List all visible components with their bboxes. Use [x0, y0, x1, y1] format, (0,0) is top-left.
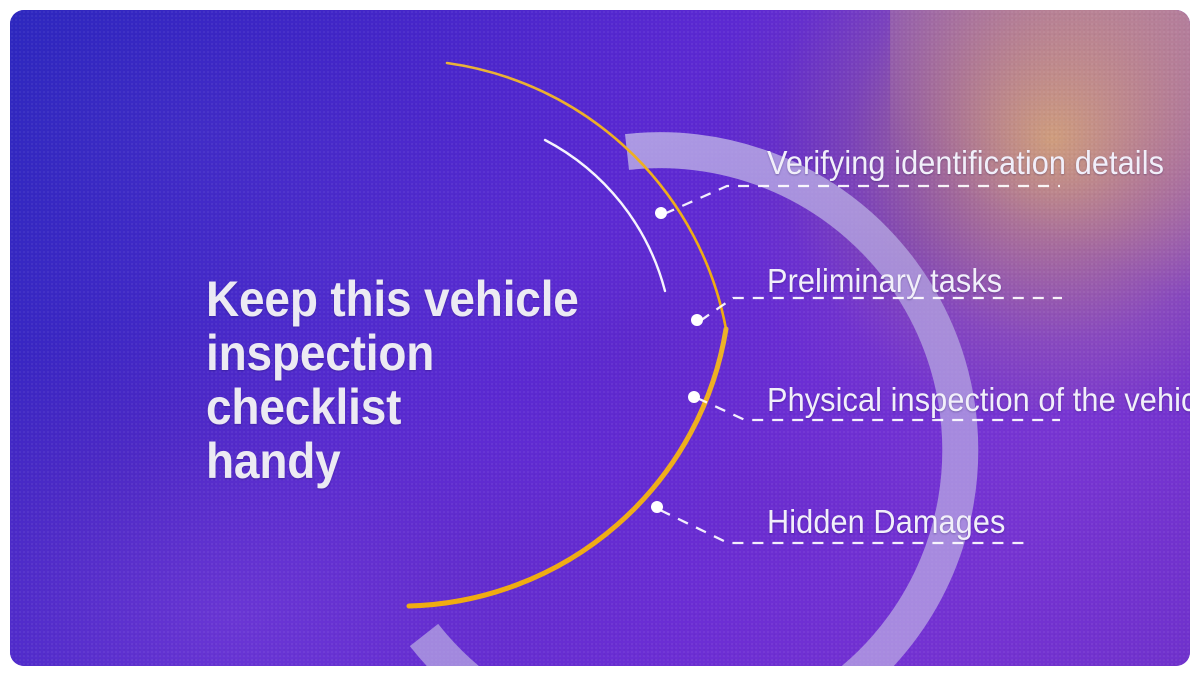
dashed-connector-2	[700, 298, 1062, 321]
dot-marker-4[interactable]	[651, 501, 663, 513]
dot-marker-1[interactable]	[655, 207, 667, 219]
page-title: Keep this vehicle inspection checklist h…	[206, 272, 602, 488]
checklist-item-label-1: Verifying identification details	[767, 146, 1164, 179]
marker-group	[651, 207, 703, 513]
slide-card: Keep this vehicle inspection checklist h…	[10, 10, 1190, 666]
checklist-item-label-3: Physical inspection of the vehicle	[767, 383, 1190, 416]
infographic-slide: Keep this vehicle inspection checklist h…	[0, 0, 1200, 676]
checklist-item-label-2: Preliminary tasks	[767, 264, 1002, 297]
dot-marker-2[interactable]	[691, 314, 703, 326]
checklist-item-label-4: Hidden Damages	[767, 505, 1005, 538]
dot-marker-3[interactable]	[688, 391, 700, 403]
